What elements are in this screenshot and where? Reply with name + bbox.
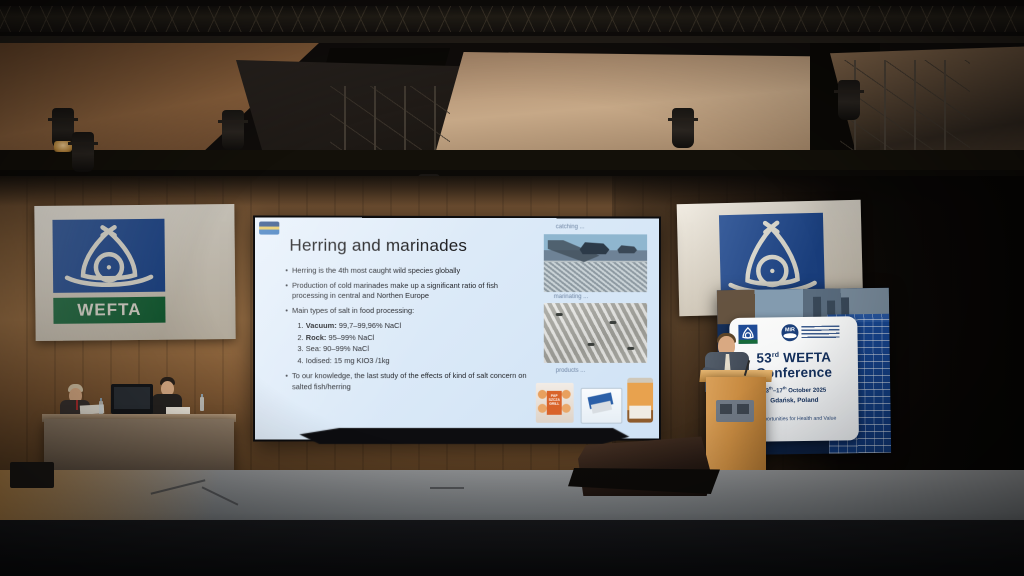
truss-lattice bbox=[330, 86, 450, 156]
name-card bbox=[166, 407, 190, 414]
flag-shading bbox=[34, 204, 235, 341]
truss-beam bbox=[0, 36, 1024, 43]
mir-disc-icon: MIR bbox=[781, 324, 798, 341]
stage-spotlight-icon bbox=[72, 132, 94, 172]
screen-glare bbox=[255, 217, 659, 439]
stage-spotlight-icon bbox=[672, 108, 694, 148]
ceiling-truss-area bbox=[0, 0, 1024, 200]
wefta-flag-left: WEFTA bbox=[34, 204, 235, 341]
water-bottle bbox=[200, 397, 204, 411]
presentation-slide: Herring and marinades • Herring is the 4… bbox=[255, 217, 659, 439]
banner-org-name: WEFTA bbox=[779, 350, 831, 366]
banner-wefta-logo-icon bbox=[738, 325, 757, 344]
mir-institute-logo: MIR bbox=[781, 324, 839, 342]
lighting-rig-bar bbox=[0, 150, 1024, 172]
pen bbox=[76, 400, 78, 410]
stage-spotlight-icon bbox=[222, 110, 244, 150]
foreground-equipment-box bbox=[10, 462, 54, 488]
mir-wordmark: MIR bbox=[783, 327, 796, 333]
screen-lower-shadow bbox=[299, 428, 629, 444]
floor-marking bbox=[430, 487, 464, 489]
podium bbox=[706, 377, 766, 485]
banner-edition-number: 53 bbox=[756, 350, 772, 365]
truss-lattice-icon bbox=[0, 6, 1024, 32]
conference-stage-photo: WEFTA Herring and marinades • Herring bbox=[0, 0, 1024, 576]
water-bottle bbox=[99, 401, 103, 415]
podium-control-panel bbox=[716, 400, 754, 422]
stage-monitor bbox=[111, 384, 153, 414]
institute-name-lines bbox=[801, 325, 839, 340]
stage-front-edge bbox=[0, 520, 1024, 576]
stage-spotlight-icon bbox=[838, 80, 860, 120]
